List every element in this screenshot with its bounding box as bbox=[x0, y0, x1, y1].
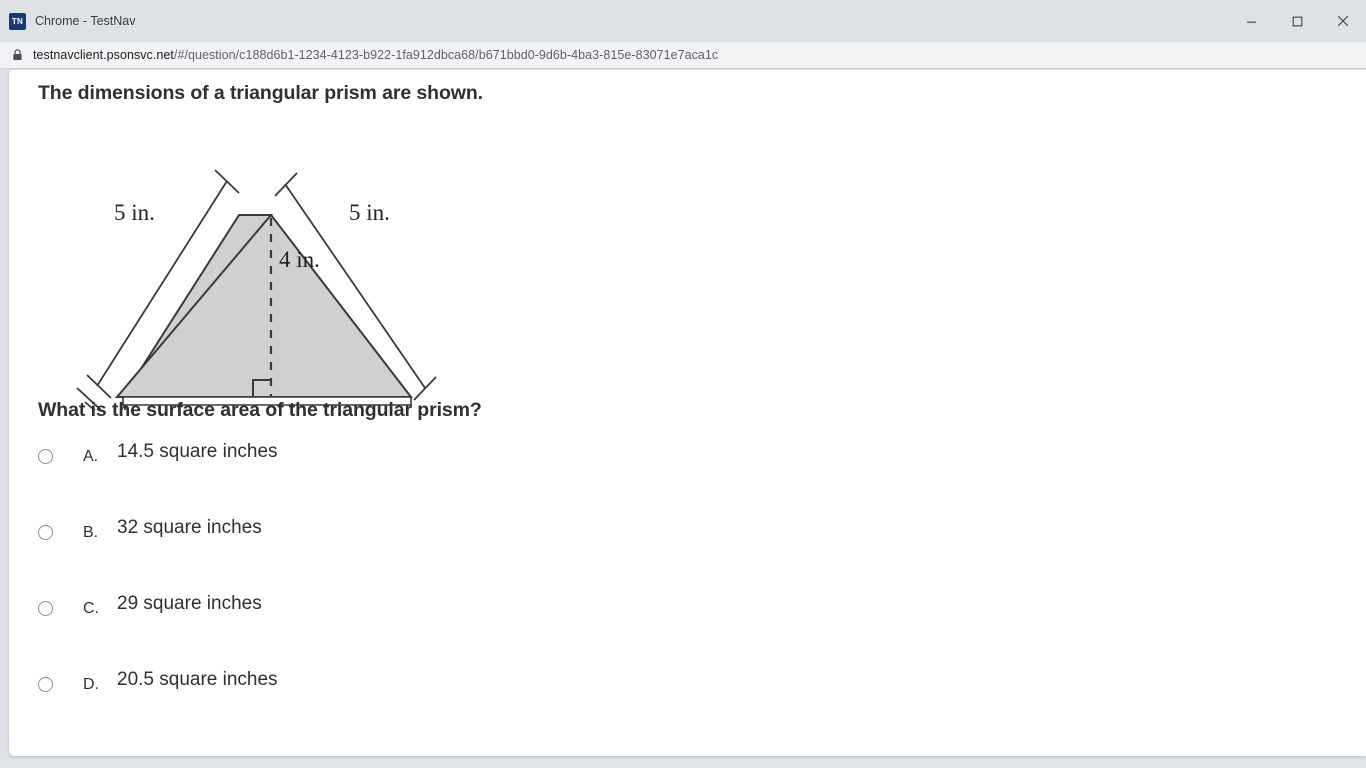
radio-button-a[interactable] bbox=[38, 449, 53, 464]
option-text-a[interactable]: 14.5 square inches bbox=[117, 441, 278, 463]
app-root: TN Chrome - TestNav bbox=[0, 0, 1366, 768]
option-letter-d: D. bbox=[83, 676, 117, 694]
label-height: 4 in. bbox=[279, 247, 320, 272]
answer-option-c[interactable]: C. 29 square inches bbox=[38, 593, 938, 669]
question-content-card: The dimensions of a triangular prism are… bbox=[9, 70, 1366, 756]
question-stem: The dimensions of a triangular prism are… bbox=[38, 82, 483, 105]
triangular-prism-svg: 5 in. 5 in. 4 in. 6 in. 0.5 in. bbox=[39, 110, 459, 410]
left-slant-tick-top bbox=[215, 170, 239, 193]
left-slant-tick-bottom bbox=[87, 375, 111, 398]
prism-front-face bbox=[117, 215, 411, 397]
close-button[interactable] bbox=[1320, 0, 1366, 42]
question-prompt: What is the surface area of the triangul… bbox=[38, 399, 482, 422]
answer-options-list: A. 14.5 square inches B. 32 square inche… bbox=[38, 441, 938, 745]
minimize-button[interactable] bbox=[1228, 0, 1274, 42]
address-bar-url[interactable]: testnavclient.psonsvc.net/#/question/c18… bbox=[33, 48, 718, 62]
window-titlebar: TN Chrome - TestNav bbox=[0, 0, 1366, 42]
window-tab-title[interactable]: Chrome - TestNav bbox=[35, 14, 136, 28]
option-text-b[interactable]: 32 square inches bbox=[117, 517, 262, 539]
label-right-slant: 5 in. bbox=[349, 200, 390, 225]
radio-button-b[interactable] bbox=[38, 525, 53, 540]
option-letter-b: B. bbox=[83, 524, 117, 542]
url-path: /#/question/c188d6b1-1234-4123-b922-1fa9… bbox=[174, 48, 718, 62]
address-bar[interactable]: testnavclient.psonsvc.net/#/question/c18… bbox=[0, 42, 1366, 69]
radio-button-c[interactable] bbox=[38, 601, 53, 616]
radio-button-d[interactable] bbox=[38, 677, 53, 692]
answer-option-d[interactable]: D. 20.5 square inches bbox=[38, 669, 938, 745]
answer-option-a[interactable]: A. 14.5 square inches bbox=[38, 441, 938, 517]
label-left-slant: 5 in. bbox=[114, 200, 155, 225]
option-letter-a: A. bbox=[83, 448, 117, 466]
window-controls bbox=[1228, 0, 1366, 42]
maximize-icon bbox=[1292, 16, 1303, 27]
maximize-button[interactable] bbox=[1274, 0, 1320, 42]
minimize-icon bbox=[1246, 16, 1257, 27]
close-icon bbox=[1337, 15, 1349, 27]
right-slant-tick-bottom bbox=[414, 377, 436, 400]
tab-favicon-testnav: TN bbox=[9, 13, 26, 30]
option-letter-c: C. bbox=[83, 600, 117, 618]
triangular-prism-figure: 5 in. 5 in. 4 in. 6 in. 0.5 in. bbox=[39, 110, 459, 410]
option-text-d[interactable]: 20.5 square inches bbox=[117, 669, 278, 691]
answer-option-b[interactable]: B. 32 square inches bbox=[38, 517, 938, 593]
option-text-c[interactable]: 29 square inches bbox=[117, 593, 262, 615]
right-slant-tick-top bbox=[275, 173, 297, 196]
lock-icon bbox=[11, 49, 23, 62]
url-host: testnavclient.psonsvc.net bbox=[33, 48, 174, 62]
